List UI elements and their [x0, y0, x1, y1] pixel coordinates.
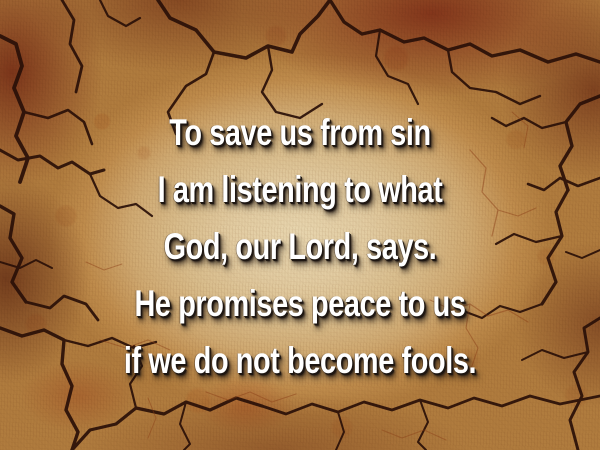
quote-line-5: if we do not become fools. [66, 332, 534, 389]
quote-poster: To save us from sin I am listening to wh… [0, 0, 600, 450]
quote-line-2: I am listening to what [66, 161, 534, 218]
quote-line-4: He promises peace to us [66, 275, 534, 332]
quote-text-block: To save us from sin I am listening to wh… [0, 104, 600, 389]
quote-line-1: To save us from sin [66, 104, 534, 161]
quote-line-3: God, our Lord, says. [66, 218, 534, 275]
